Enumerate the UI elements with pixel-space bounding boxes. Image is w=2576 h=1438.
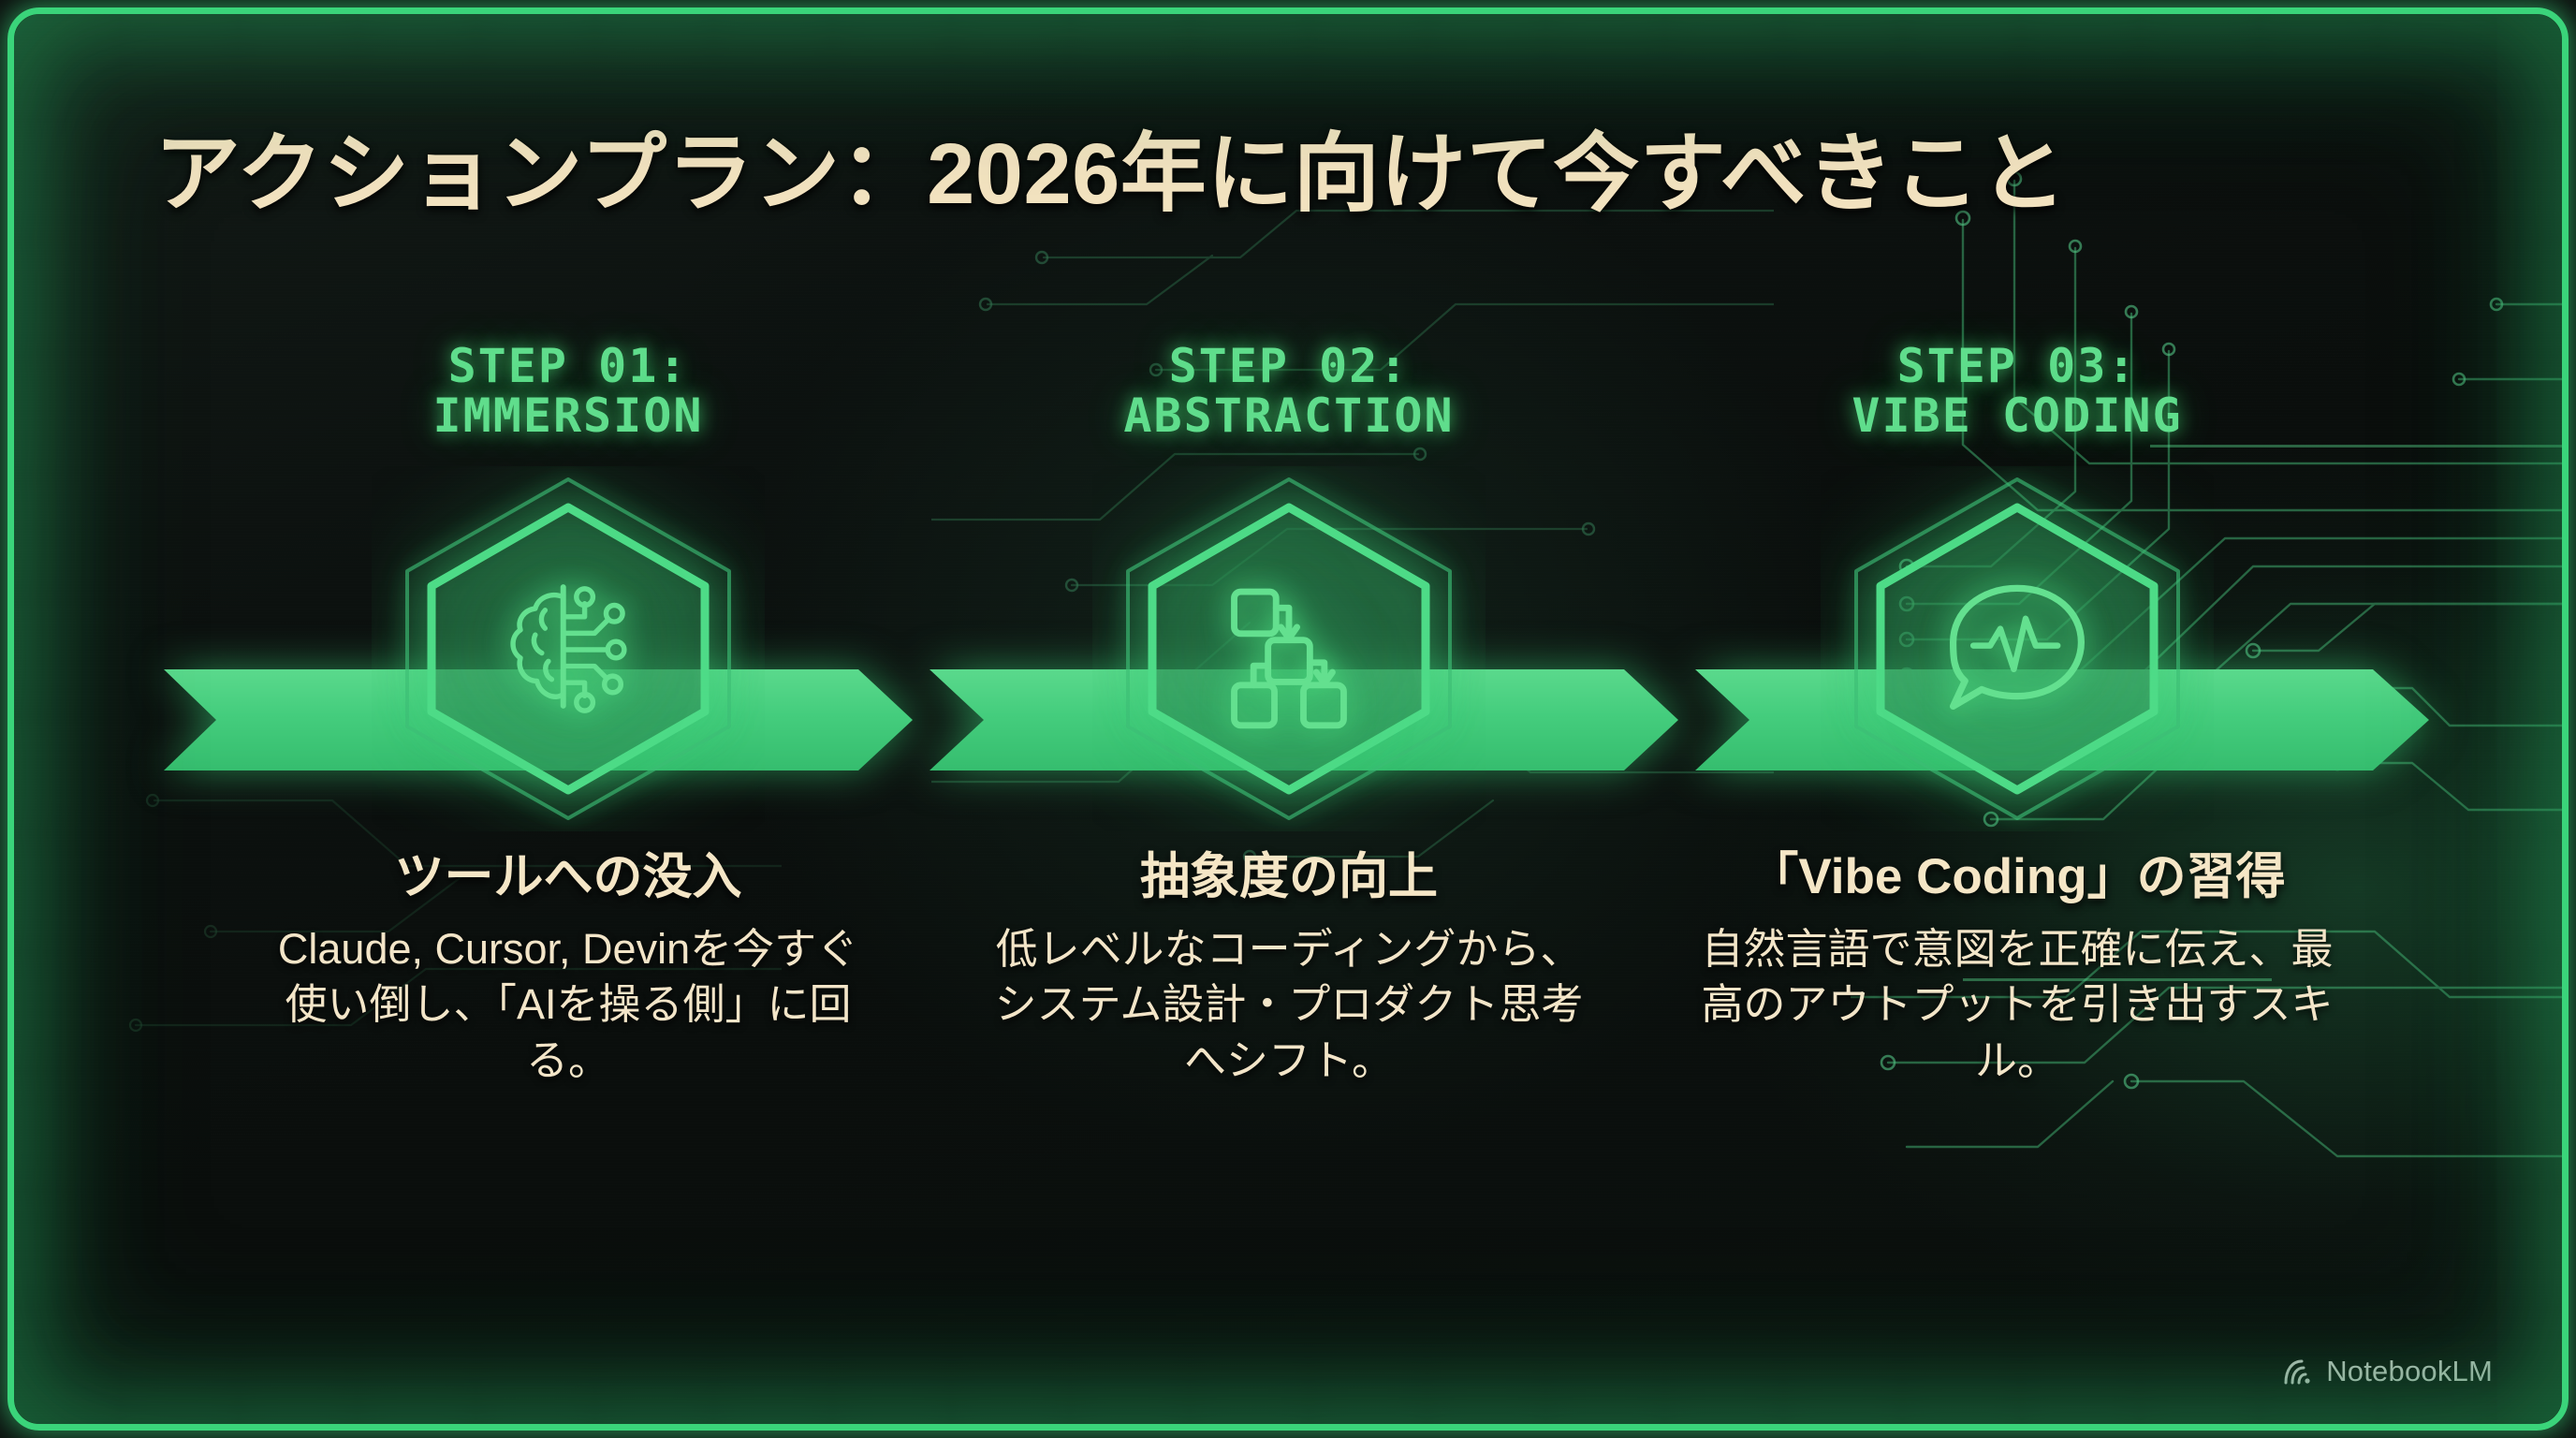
slide-root: アクションプラン：2026年に向けて今すべきこと STEP 01: IMMERS… <box>0 0 2576 1438</box>
chat-bubble-pulse-icon <box>1933 571 2101 730</box>
step-hex-badge-1 <box>372 466 765 831</box>
step-column-2: STEP 02: ABSTRACTION <box>933 342 1645 1088</box>
step-title-1: ツールへの没入 <box>212 837 924 908</box>
step-title-2: 抽象度の向上 <box>933 837 1645 908</box>
step-title-3: 「Vibe Coding」の習得 <box>1661 837 2373 908</box>
step-label-1: STEP 01: IMMERSION <box>212 342 924 440</box>
step-column-1: STEP 01: IMMERSION <box>212 342 924 1088</box>
step-label-2: STEP 02: ABSTRACTION <box>933 342 1645 440</box>
notebooklm-watermark-label: NotebookLM <box>2326 1355 2493 1388</box>
step-hex-badge-2 <box>1092 466 1486 831</box>
step-hex-badge-3 <box>1821 466 2214 831</box>
page-title: アクションプラン：2026年に向けて今すべきこと <box>154 104 2067 228</box>
slide-stage: アクションプラン：2026年に向けて今すべきこと STEP 01: IMMERS… <box>14 14 2562 1424</box>
step-description-3: 自然言語で意図を正確に伝え、最高のアウトプットを引き出すスキル。 <box>1699 921 2335 1088</box>
step-column-3: STEP 03: VIBE CODING 「Vibe Coding」の習得 自然… <box>1661 342 2373 1088</box>
flowchart-nodes-icon <box>1208 569 1369 730</box>
step-description-2: 低レベルなコーディングから、システム設計・プロダクト思考へシフト。 <box>989 921 1588 1088</box>
brain-circuit-icon <box>486 567 651 732</box>
notebooklm-arcs-icon <box>2283 1357 2315 1386</box>
step-label-3: STEP 03: VIBE CODING <box>1661 342 2373 440</box>
notebooklm-watermark: NotebookLM <box>2283 1355 2493 1388</box>
step-description-1: Claude, Cursor, Devinを今すぐ使い倒し、「AIを操る側」に回… <box>269 921 868 1088</box>
